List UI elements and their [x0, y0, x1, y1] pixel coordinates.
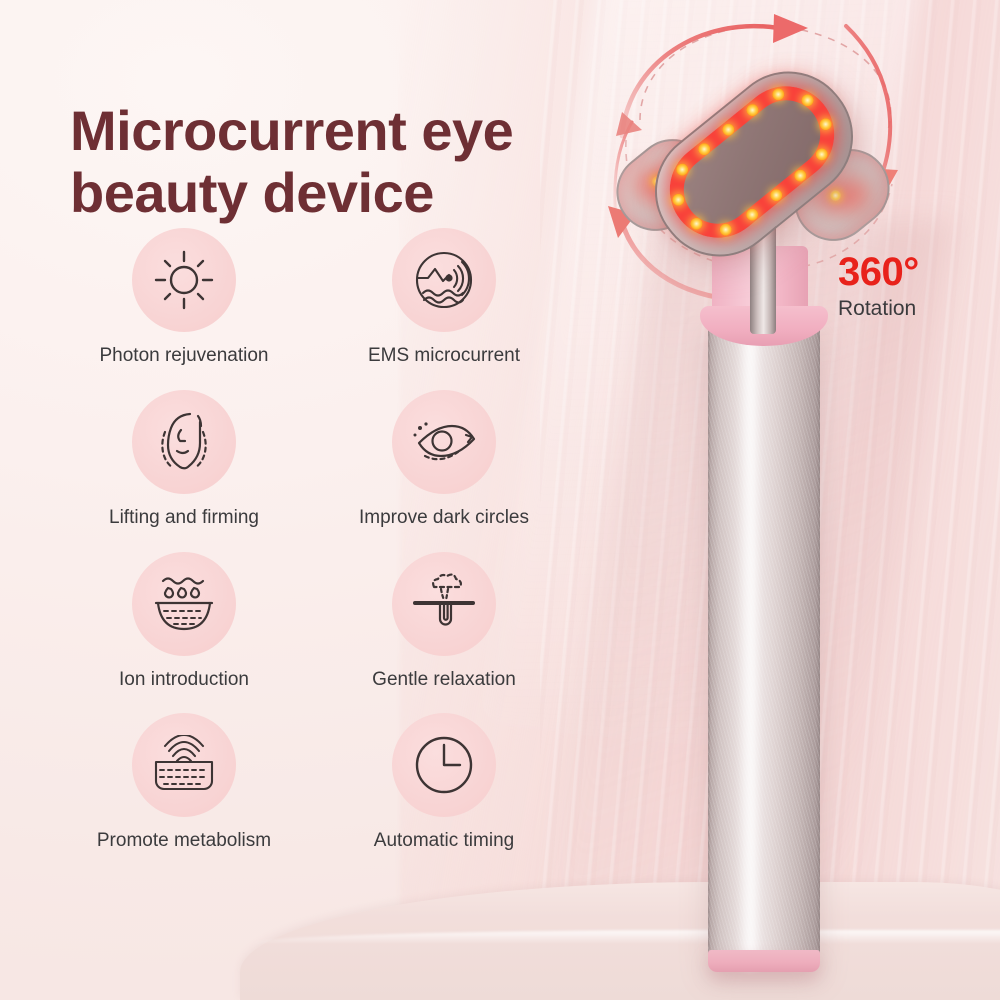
feature-item: EMS microcurrent: [318, 228, 570, 368]
head-led-dot: [720, 121, 737, 138]
feature-label: Photon rejuvenation: [99, 345, 268, 368]
feature-item: Automatic timing: [318, 713, 570, 853]
device-handle: [708, 322, 820, 970]
handle-texture: [708, 322, 820, 970]
page-title: Microcurrent eye beauty device: [70, 100, 630, 225]
head-led-dot: [813, 146, 830, 163]
head-led-dot: [688, 216, 705, 233]
feature-grid: Photon rejuvenation EMS microcurrent Lif…: [58, 228, 578, 853]
device-base-cap: [708, 950, 820, 972]
skin-waves-icon: [132, 713, 236, 817]
device-illustration: [600, 10, 1000, 1000]
feature-item: Ion introduction: [58, 552, 310, 692]
head-led-dot: [744, 101, 761, 118]
feature-label: Improve dark circles: [359, 507, 529, 530]
rotation-arrowhead-top-right: [773, 14, 808, 43]
feature-item: Improve dark circles: [318, 390, 570, 530]
handle-highlight: [737, 322, 762, 970]
head-led-dot: [770, 86, 787, 103]
feature-item: Gentle relaxation: [318, 552, 570, 692]
ion-droplet-icon: [132, 552, 236, 656]
rotation-degrees: 360°: [838, 252, 988, 292]
feature-item: Promote metabolism: [58, 713, 310, 853]
rotation-label: Rotation: [838, 298, 988, 319]
feature-label: Lifting and firming: [109, 507, 259, 530]
sun-icon: [132, 228, 236, 332]
face-profile-icon: [132, 390, 236, 494]
clock-icon: [392, 713, 496, 817]
ems-signal-icon: [392, 228, 496, 332]
feature-label: Promote metabolism: [97, 830, 271, 853]
feature-label: Gentle relaxation: [372, 669, 516, 692]
product-poster: Microcurrent eye beauty device Photon re…: [0, 0, 1000, 1000]
eye-icon: [392, 390, 496, 494]
head-led-dot: [696, 140, 713, 157]
feature-item: Photon rejuvenation: [58, 228, 310, 368]
pore-steam-icon: [392, 552, 496, 656]
feature-label: EMS microcurrent: [368, 345, 520, 368]
feature-label: Automatic timing: [374, 830, 514, 853]
head-led-dot: [799, 92, 816, 109]
head-wing-right-led: [830, 190, 841, 201]
head-led-dot: [674, 161, 691, 178]
rotation-callout: 360° Rotation: [838, 252, 988, 319]
feature-label: Ion introduction: [119, 669, 249, 692]
head-led-dot: [717, 221, 734, 238]
feature-item: Lifting and firming: [58, 390, 310, 530]
head-led-dot: [670, 191, 687, 208]
head-led-dot: [817, 116, 834, 133]
